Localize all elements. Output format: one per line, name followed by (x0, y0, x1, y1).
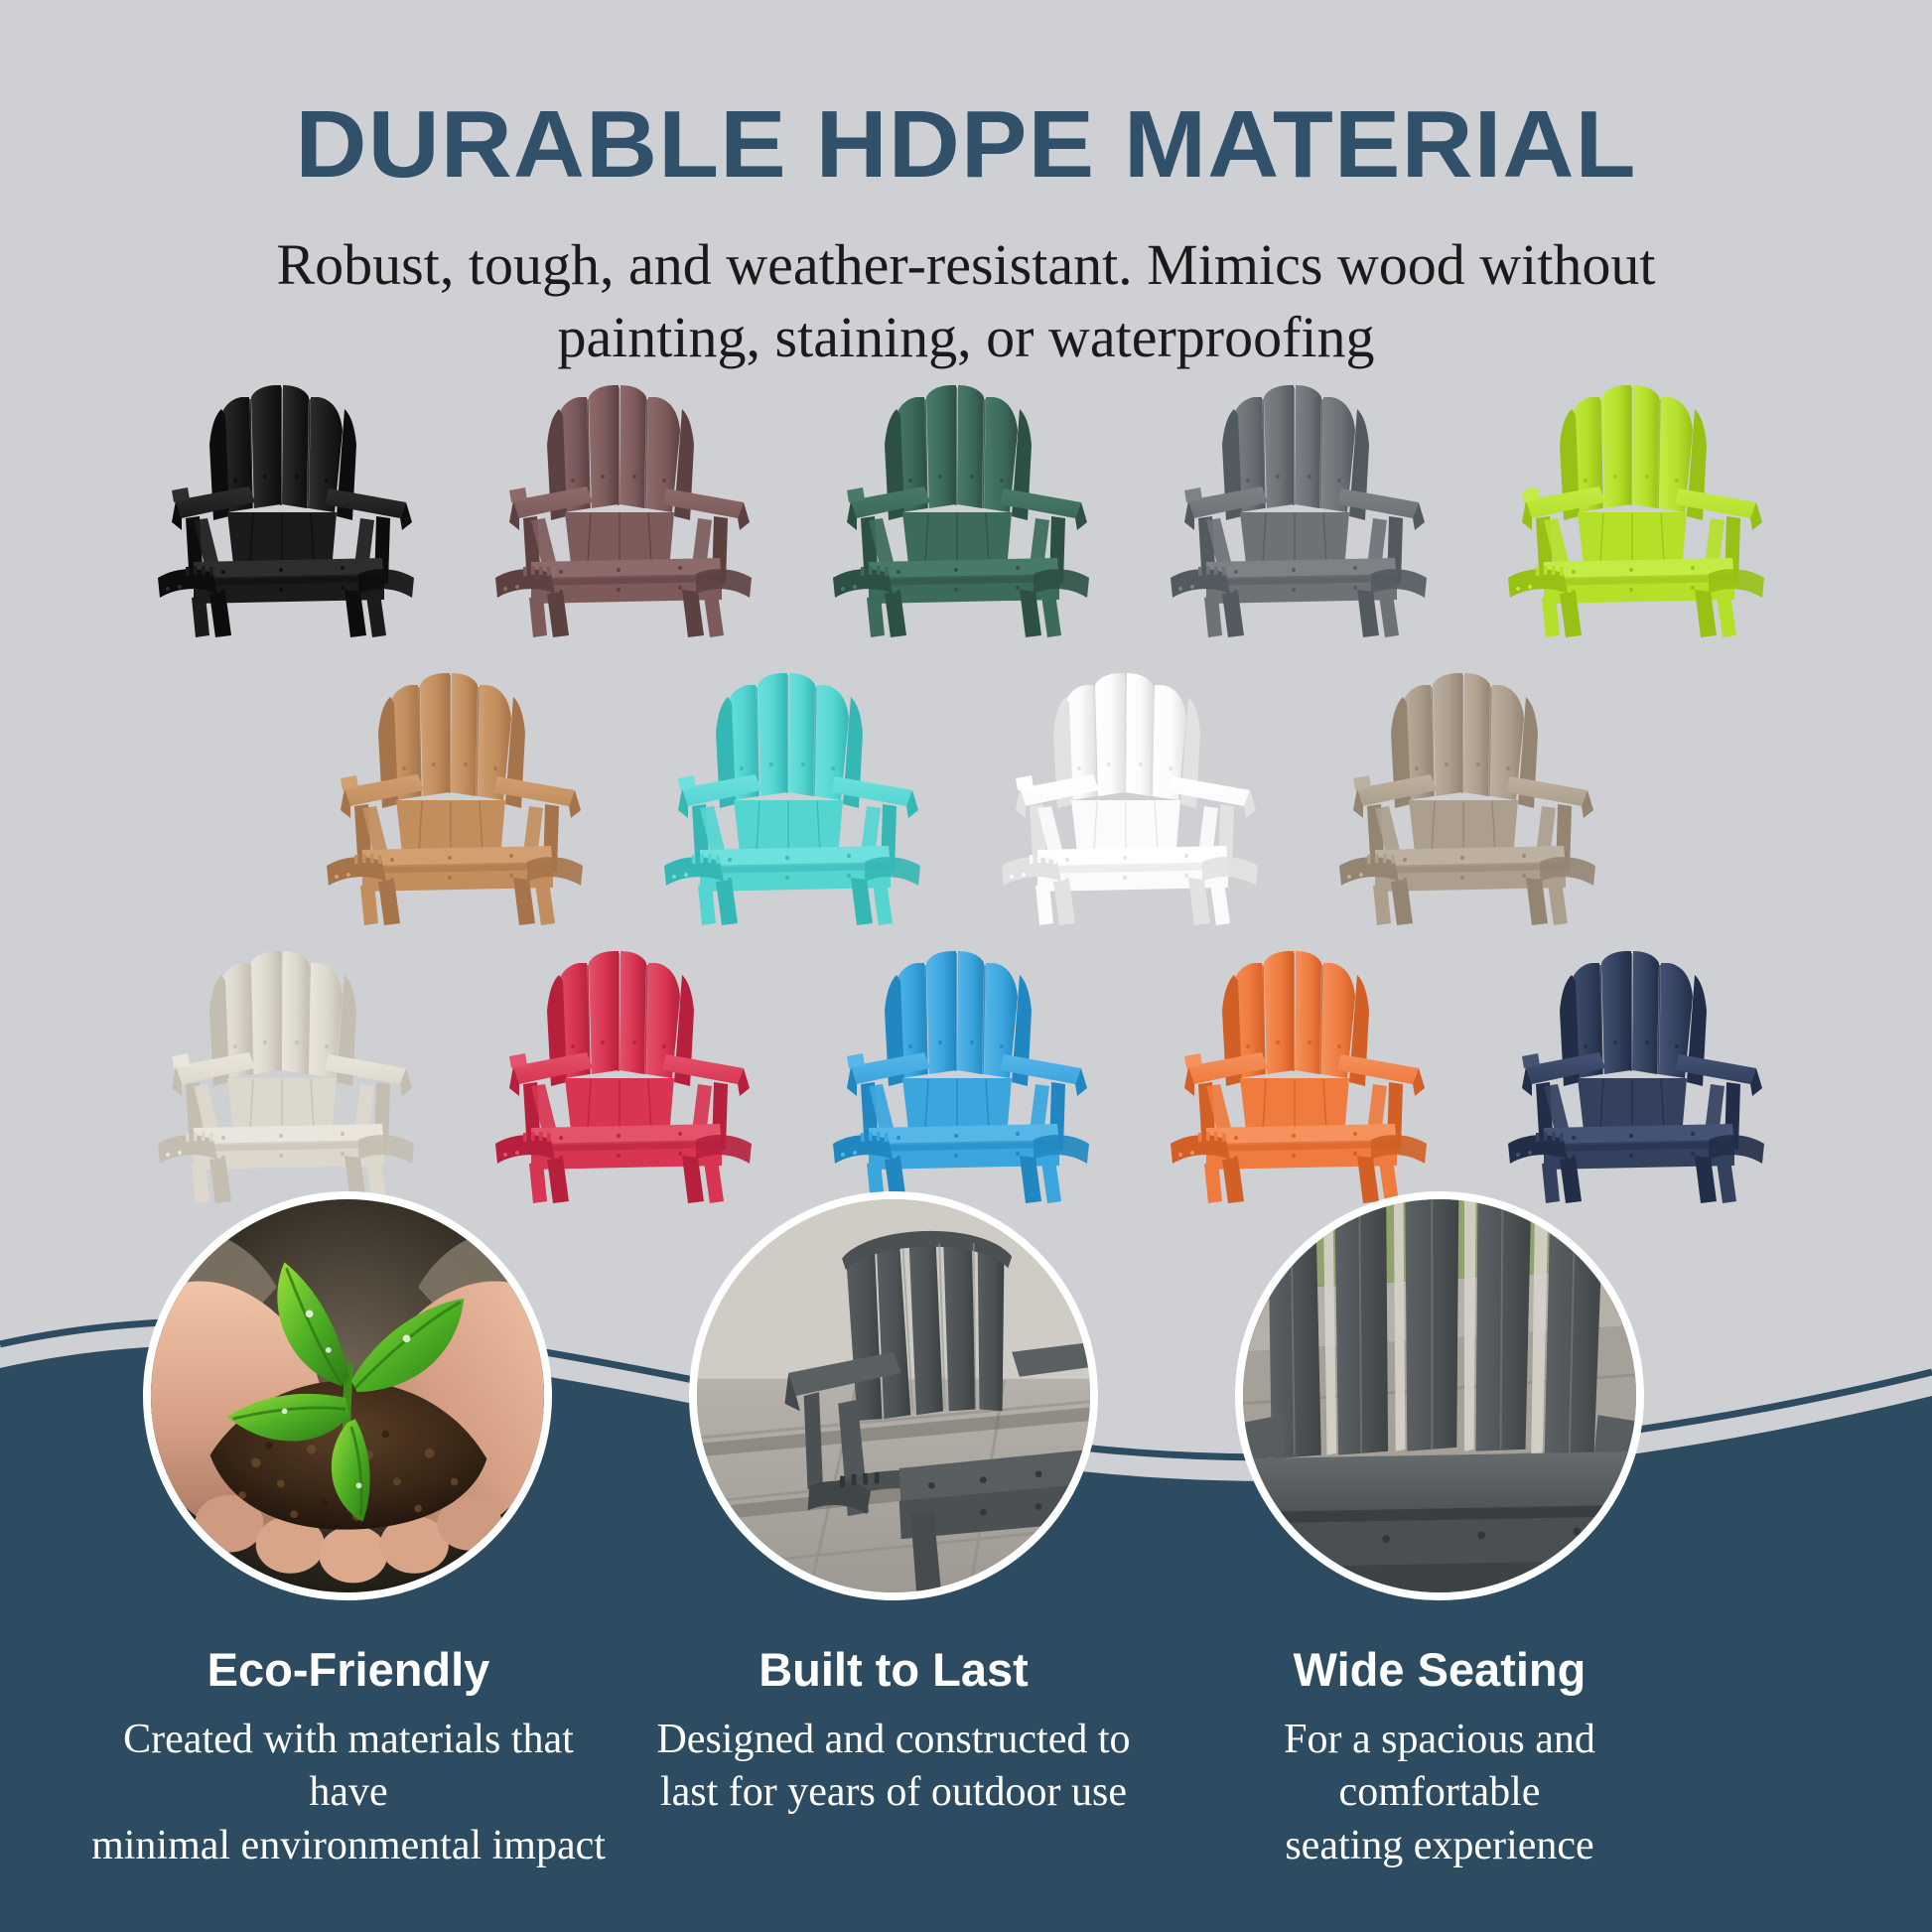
infographic-canvas: DURABLE HDPE MATERIAL Robust, tough, and… (0, 0, 1932, 1932)
feature-body-line-1: Created with materials that have (123, 1717, 574, 1816)
feature-body-built-to-last: Designed and constructed to last for yea… (635, 1696, 1152, 1821)
feature-body-wide-seating: For a spacious and comfortable seating e… (1181, 1696, 1698, 1873)
wide-seat-closeup-icon (1243, 1199, 1636, 1592)
feature-image-built-to-last (689, 1191, 1098, 1600)
feature-body-eco-friendly: Created with materials that have minimal… (91, 1696, 606, 1873)
feature-built-to-last: Built to Last Designed and constructed t… (635, 1191, 1152, 1820)
feature-title-eco-friendly: Eco-Friendly (91, 1600, 606, 1696)
feature-image-eco-friendly (143, 1191, 552, 1600)
hands-holding-soil-icon (151, 1199, 544, 1592)
feature-body-line-1: For a spacious and comfortable (1284, 1717, 1595, 1816)
feature-title-built-to-last: Built to Last (635, 1600, 1152, 1696)
features-section: Eco-Friendly Created with materials that… (0, 0, 1932, 1932)
feature-body-line-2: last for years of outdoor use (660, 1769, 1127, 1815)
feature-body-line-2: seating experience (1285, 1823, 1593, 1868)
feature-eco-friendly: Eco-Friendly Created with materials that… (89, 1191, 606, 1873)
feature-wide-seating: Wide Seating For a spacious and comforta… (1181, 1191, 1698, 1873)
gray-chair-on-patio-icon (697, 1199, 1090, 1592)
feature-title-wide-seating: Wide Seating (1181, 1600, 1698, 1696)
feature-body-line-1: Designed and constructed to (656, 1717, 1130, 1762)
feature-body-line-2: minimal environmental impact (91, 1823, 606, 1868)
feature-image-wide-seating (1235, 1191, 1644, 1600)
